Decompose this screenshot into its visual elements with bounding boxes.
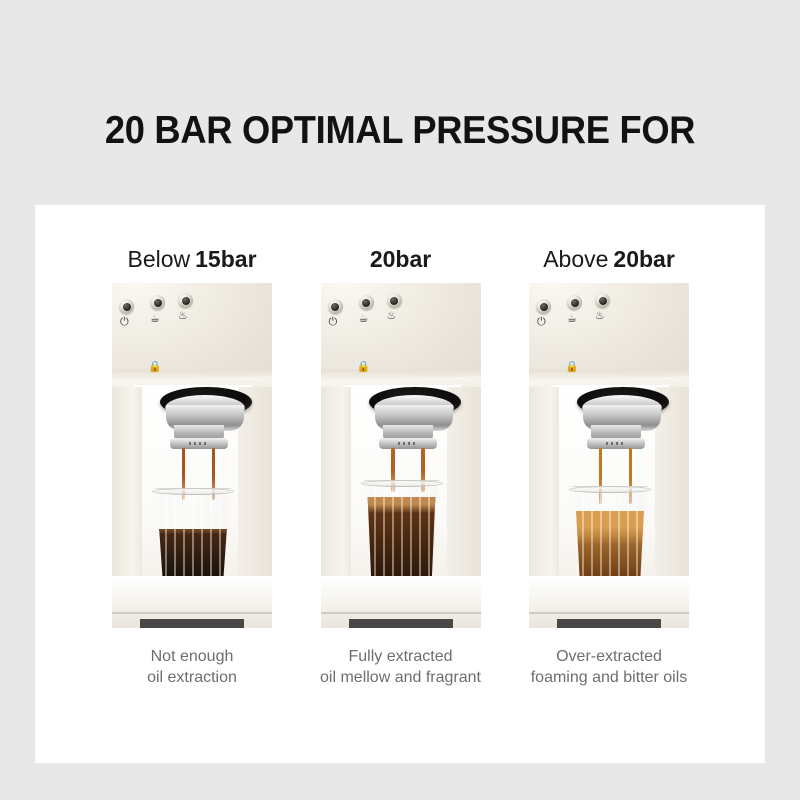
caption-2-line-1: Fully extracted	[320, 646, 481, 667]
portafilter-vents-2	[398, 442, 416, 445]
caption-1-line-2: oil extraction	[147, 667, 237, 688]
drip-tray-grate-1	[140, 619, 244, 628]
column-header-prefix-3: Above	[543, 246, 608, 273]
coffee-liquid-1	[157, 529, 229, 581]
lock-icon-3: 🔒	[565, 361, 579, 372]
product-infographic: 20 BAR OPTIMAL PRESSURE FOR EXTRACTION O…	[0, 0, 800, 800]
comparison-card: Below 15bar ⏻ ☕ ♨ 🔒	[35, 205, 765, 763]
drip-tray-grate-3	[557, 619, 661, 628]
column-header-value-2: 20bar	[370, 246, 431, 273]
comparison-column-below-15bar: Below 15bar ⏻ ☕ ♨ 🔒	[98, 235, 286, 735]
power-knob-3	[536, 299, 551, 314]
power-knob-1	[119, 299, 134, 314]
crema-layer-1	[157, 529, 229, 534]
cup-rim-3	[569, 486, 651, 493]
portafilter-vents-1	[189, 442, 207, 445]
power-icon-2: ⏻	[329, 316, 338, 327]
drip-tray-line-2	[321, 612, 481, 614]
photo-panel-1: ⏻ ☕ ♨ 🔒	[112, 283, 272, 628]
photo-panel-2: ⏻ ☕ ♨ 🔒	[321, 283, 481, 628]
photo-panel-3: ⏻ ☕ ♨ 🔒	[529, 283, 689, 628]
comparison-column-above-20bar: Above 20bar ⏻ ☕ ♨ 🔒	[515, 235, 703, 735]
coffee-knob-3	[567, 295, 582, 310]
power-icon-3: ⏻	[537, 316, 546, 327]
coffee-liquid-2	[366, 497, 438, 581]
drip-tray-line-1	[112, 612, 272, 614]
column-header-prefix-1: Below	[127, 246, 190, 273]
steam-knob-1	[178, 293, 193, 308]
power-icon-1: ⏻	[120, 316, 129, 327]
coffee-liquid-3	[574, 511, 646, 581]
steam-knob-2	[387, 293, 402, 308]
caption-3: Over-extracted foaming and bitter oils	[531, 646, 688, 688]
cup-icon-3: ☕	[567, 313, 577, 324]
column-header-1: Below 15bar	[127, 235, 256, 283]
power-knob-2	[328, 299, 343, 314]
caption-1-line-1: Not enough	[147, 646, 237, 667]
lock-icon-1: 🔒	[148, 361, 162, 372]
coffee-knob-2	[359, 295, 374, 310]
drip-tray-line-3	[529, 612, 689, 614]
steam-icon-2: ♨	[387, 310, 397, 321]
page-title-line-1: 20 BAR OPTIMAL PRESSURE FOR	[28, 108, 772, 154]
comparison-columns: Below 15bar ⏻ ☕ ♨ 🔒	[98, 235, 703, 735]
machine-left-wall-3	[529, 387, 559, 577]
steam-knob-3	[595, 293, 610, 308]
steam-icon-1: ♨	[178, 310, 188, 321]
caption-2: Fully extracted oil mellow and fragrant	[320, 646, 481, 688]
machine-left-wall-1	[112, 387, 142, 577]
column-header-2: 20bar	[370, 235, 431, 283]
cup-icon-1: ☕	[150, 313, 160, 324]
column-header-value-1: 15bar	[195, 246, 256, 273]
caption-3-line-2: foaming and bitter oils	[531, 667, 688, 688]
machine-left-wall-2	[321, 387, 351, 577]
coffee-knob-1	[150, 295, 165, 310]
portafilter-vents-3	[606, 442, 624, 445]
column-header-3: Above 20bar	[543, 235, 675, 283]
caption-2-line-2: oil mellow and fragrant	[320, 667, 481, 688]
glass-cup-2	[359, 480, 445, 584]
crema-layer-3	[574, 511, 646, 545]
cup-rim-1	[152, 488, 234, 495]
cup-icon-2: ☕	[359, 313, 369, 324]
caption-3-line-1: Over-extracted	[531, 646, 688, 667]
comparison-column-20bar: 20bar ⏻ ☕ ♨ 🔒	[307, 235, 495, 735]
lock-icon-2: 🔒	[357, 361, 371, 372]
column-header-value-3: 20bar	[613, 246, 674, 273]
drip-tray-grate-2	[349, 619, 453, 628]
crema-layer-2	[366, 497, 438, 513]
glass-cup-3	[567, 486, 653, 584]
glass-cup-1	[150, 488, 236, 584]
caption-1: Not enough oil extraction	[147, 646, 237, 688]
cup-rim-2	[361, 480, 443, 487]
steam-icon-3: ♨	[595, 310, 605, 321]
